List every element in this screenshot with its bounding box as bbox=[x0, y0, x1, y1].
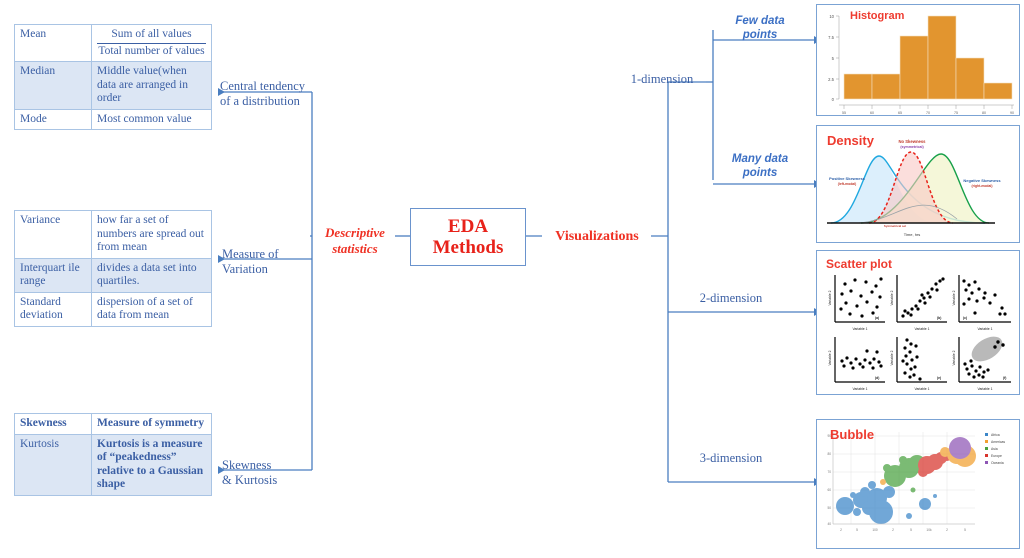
cell-value: Sum of all values Total number of values bbox=[92, 25, 212, 62]
svg-text:Asia: Asia bbox=[991, 447, 998, 451]
svg-text:80: 80 bbox=[827, 452, 831, 456]
svg-text:5: 5 bbox=[964, 528, 966, 532]
table-row: Skewness Measure of symmetry bbox=[15, 414, 212, 435]
svg-text:Positive Skewness: Positive Skewness bbox=[829, 176, 866, 181]
svg-text:10: 10 bbox=[829, 14, 834, 19]
node-eda-methods[interactable]: EDA Methods bbox=[410, 208, 526, 266]
svg-text:60: 60 bbox=[827, 488, 831, 492]
svg-text:Variable 1: Variable 1 bbox=[977, 327, 992, 331]
svg-text:65: 65 bbox=[898, 111, 902, 115]
svg-text:55: 55 bbox=[842, 111, 846, 115]
svg-text:(a): (a) bbox=[875, 316, 879, 320]
label-2-dimension: 2-dimension bbox=[685, 291, 777, 306]
cell-value: Most common value bbox=[92, 109, 212, 130]
table-row: Standard deviation dispersion of a set o… bbox=[15, 292, 212, 326]
label-skewness-kurtosis: Skewness & Kurtosis bbox=[222, 458, 318, 488]
svg-text:Europe: Europe bbox=[991, 454, 1002, 458]
label-measure-of-variation: Measure of Variation bbox=[222, 247, 318, 277]
cell-value: divides a data set into quartiles. bbox=[92, 258, 212, 292]
svg-text:2: 2 bbox=[840, 528, 842, 532]
cell-key: Skewness bbox=[15, 414, 92, 435]
node-eda-methods-text: EDA Methods bbox=[433, 216, 504, 259]
svg-text:Symmetrical set: Symmetrical set bbox=[884, 224, 906, 228]
svg-text:(b): (b) bbox=[937, 316, 941, 320]
svg-text:100: 100 bbox=[872, 528, 878, 532]
svg-text:7.5: 7.5 bbox=[828, 35, 834, 40]
svg-text:Variable 1: Variable 1 bbox=[914, 387, 929, 391]
table-measure-of-variation: Variance how far a set of numbers are sp… bbox=[14, 210, 212, 327]
svg-text:Oceania: Oceania bbox=[991, 461, 1004, 465]
svg-text:5: 5 bbox=[856, 528, 858, 532]
table-skewness-kurtosis: Skewness Measure of symmetry Kurtosis Ku… bbox=[14, 413, 212, 496]
svg-text:Americas: Americas bbox=[991, 440, 1005, 444]
cell-value: Measure of symmetry bbox=[92, 414, 212, 435]
label-few-data-points: Few data points bbox=[716, 15, 804, 43]
label-many-data-points: Many data points bbox=[716, 153, 804, 181]
svg-text:5: 5 bbox=[832, 56, 835, 61]
svg-text:60: 60 bbox=[870, 111, 874, 115]
svg-text:0: 0 bbox=[832, 97, 835, 102]
cell-value: dispersion of a set of data from mean bbox=[92, 292, 212, 326]
svg-text:70: 70 bbox=[827, 470, 831, 474]
svg-text:Variable 1: Variable 1 bbox=[914, 327, 929, 331]
chart-panel-bubble[interactable]: Bubble bbox=[816, 419, 1020, 549]
chart-panel-histogram[interactable]: Histogram 10 7.5 5 2.5 0 bbox=[816, 4, 1020, 116]
scatter-svg: (a) Variable 1 Variable 2 bbox=[817, 251, 1019, 394]
chart-panel-density[interactable]: Density No Skewness (symmetrical) Positi… bbox=[816, 125, 1020, 243]
chart-title-bubble: Bubble bbox=[830, 427, 874, 442]
branch-visualizations: Visualizations bbox=[543, 229, 651, 246]
svg-text:50: 50 bbox=[827, 506, 831, 510]
svg-text:No Skewness: No Skewness bbox=[899, 139, 927, 144]
svg-text:Time, hrs: Time, hrs bbox=[904, 232, 921, 237]
svg-text:(left-modal): (left-modal) bbox=[838, 182, 856, 186]
table-row: Mean Sum of all values Total number of v… bbox=[15, 25, 212, 62]
cell-key: Median bbox=[15, 62, 92, 110]
label-1-dimension: 1-dimension bbox=[619, 72, 705, 87]
svg-text:Negative Skewness: Negative Skewness bbox=[963, 178, 1001, 183]
chart-title-density: Density bbox=[827, 133, 874, 148]
table-row: Mode Most common value bbox=[15, 109, 212, 130]
svg-text:Africa: Africa bbox=[991, 433, 1000, 437]
fraction-denominator: Total number of values bbox=[97, 45, 206, 59]
svg-text:Variable 2: Variable 2 bbox=[890, 290, 894, 305]
chart-panel-scatter[interactable]: Scatter plot bbox=[816, 250, 1020, 395]
svg-text:Variable 2: Variable 2 bbox=[952, 290, 956, 305]
branch-descriptive-statistics: Descriptive statistics bbox=[314, 225, 396, 256]
chart-title-histogram: Histogram bbox=[850, 10, 904, 22]
svg-text:2: 2 bbox=[892, 528, 894, 532]
cell-key: Kurtosis bbox=[15, 434, 92, 495]
cell-key: Interquart ile range bbox=[15, 258, 92, 292]
svg-text:(e): (e) bbox=[937, 376, 941, 380]
svg-text:(symmetrical): (symmetrical) bbox=[900, 145, 924, 149]
svg-text:90: 90 bbox=[1010, 111, 1014, 115]
svg-text:2: 2 bbox=[946, 528, 948, 532]
label-3-dimension: 3-dimension bbox=[685, 451, 777, 466]
svg-text:40: 40 bbox=[827, 522, 831, 526]
cell-value: Kurtosis is a measure of “peakedness” re… bbox=[92, 434, 212, 495]
svg-text:75: 75 bbox=[954, 111, 958, 115]
svg-text:80: 80 bbox=[982, 111, 986, 115]
cell-key: Variance bbox=[15, 211, 92, 259]
svg-text:(c): (c) bbox=[963, 316, 967, 320]
cell-key: Mode bbox=[15, 109, 92, 130]
cell-key: Mean bbox=[15, 25, 92, 62]
svg-text:Variable 2: Variable 2 bbox=[890, 350, 894, 365]
svg-text:Variable 1: Variable 1 bbox=[852, 327, 867, 331]
cell-key: Standard deviation bbox=[15, 292, 92, 326]
table-row: Kurtosis Kurtosis is a measure of “peake… bbox=[15, 434, 212, 495]
fraction-numerator: Sum of all values bbox=[97, 28, 206, 44]
svg-text:Variable 1: Variable 1 bbox=[977, 387, 992, 391]
svg-text:(d): (d) bbox=[875, 376, 879, 380]
histogram-svg: 10 7.5 5 2.5 0 bbox=[817, 5, 1019, 115]
svg-text:5: 5 bbox=[910, 528, 912, 532]
table-row: Median Middle value(when data are arrang… bbox=[15, 62, 212, 110]
cell-value: Middle value(when data are arranged in o… bbox=[92, 62, 212, 110]
table-row: Interquart ile range divides a data set … bbox=[15, 258, 212, 292]
svg-text:10k: 10k bbox=[926, 528, 932, 532]
label-central-tendency: Central tendency of a distribution bbox=[220, 79, 316, 109]
diagram-canvas: Mean Sum of all values Total number of v… bbox=[0, 0, 1024, 558]
svg-text:(right-modal): (right-modal) bbox=[972, 184, 993, 188]
svg-text:(f): (f) bbox=[1003, 376, 1006, 380]
cell-value: how far a set of numbers are spread out … bbox=[92, 211, 212, 259]
svg-text:Variable 1: Variable 1 bbox=[852, 387, 867, 391]
svg-text:2.5: 2.5 bbox=[828, 77, 834, 82]
table-row: Variance how far a set of numbers are sp… bbox=[15, 211, 212, 259]
svg-text:Variable 2: Variable 2 bbox=[952, 350, 956, 365]
svg-text:70: 70 bbox=[926, 111, 930, 115]
svg-text:Variable 2: Variable 2 bbox=[828, 290, 832, 305]
chart-title-scatter: Scatter plot bbox=[826, 257, 892, 271]
svg-text:Variable 2: Variable 2 bbox=[828, 350, 832, 365]
table-central-tendency: Mean Sum of all values Total number of v… bbox=[14, 24, 212, 130]
